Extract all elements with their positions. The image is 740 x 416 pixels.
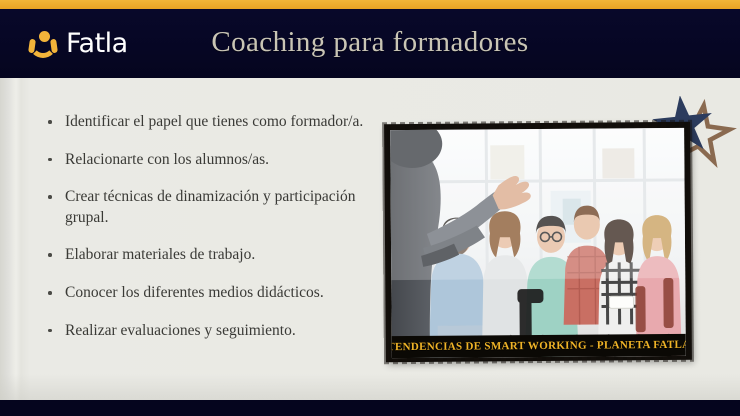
list-item-label: Relacionarte con los alumnos/as. [65,151,269,168]
page-title: Coaching para formadores [0,26,740,59]
bullet-dot-icon [48,158,52,162]
list-item-label: Realizar evaluaciones y seguimiento. [65,322,296,339]
list-item: Elaborar materiales de trabajo. [46,245,366,266]
top-gold-accent-bar [0,0,740,9]
list-item-label: Crear técnicas de dinamización y partici… [65,188,356,226]
presentation-slide: Fatla Coaching para formadores Identific… [0,0,740,416]
list-item: Conocer los diferentes medios didácticos… [46,283,366,304]
list-item: Identificar el papel que tienes como for… [46,112,366,133]
bullet-dot-icon [48,329,52,333]
classroom-scene-illustration [390,128,686,358]
bullet-dot-icon [48,195,52,199]
slide-footer-band [0,400,740,416]
photo-caption-bar: TENDENCIAS DE SMART WORKING - PLANETA FA… [392,334,686,358]
bullet-dot-icon [48,120,52,124]
photo-frame: TENDENCIAS DE SMART WORKING - PLANETA FA… [384,122,692,362]
bullet-dot-icon [48,291,52,295]
list-item: Relacionarte con los alumnos/as. [46,150,366,171]
list-item-label: Conocer los diferentes medios didácticos… [65,284,324,301]
list-item-label: Elaborar materiales de trabajo. [65,246,255,263]
photo-caption-text: TENDENCIAS DE SMART WORKING - PLANETA FA… [390,339,686,353]
photo-image: TENDENCIAS DE SMART WORKING - PLANETA FA… [390,128,686,358]
bullet-list: Identificar el papel que tienes como for… [46,112,366,341]
list-item: Realizar evaluaciones y seguimiento. [46,321,366,342]
list-item-label: Identificar el papel que tienes como for… [65,113,363,130]
bullet-dot-icon [48,253,52,257]
list-item: Crear técnicas de dinamización y partici… [46,187,366,228]
